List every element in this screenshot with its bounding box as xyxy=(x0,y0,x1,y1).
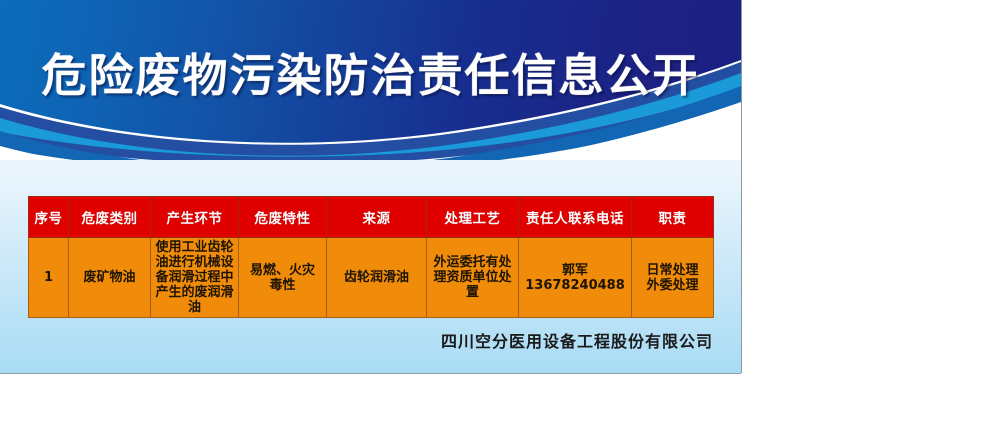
column-header-source: 来源 xyxy=(327,197,427,238)
hazardous-waste-table: 序号 危废类别 产生环节 危废特性 来源 处理工艺 责任人联系电话 职责 1 废… xyxy=(28,196,714,318)
duty-line-2: 外委处理 xyxy=(635,278,710,293)
responsible-person-phone: 13678240488 xyxy=(522,278,628,293)
column-header-category: 危废类别 xyxy=(69,197,151,238)
column-header-index: 序号 xyxy=(29,197,69,238)
cell-duty: 日常处理 外委处理 xyxy=(632,238,714,318)
table-row: 1 废矿物油 使用工业齿轮油进行机械设备润滑过程中产生的废润滑油 易燃、火灾 毒… xyxy=(29,238,714,318)
cell-responsible-contact: 郭军 13678240488 xyxy=(519,238,632,318)
cell-index: 1 xyxy=(29,238,69,318)
information-disclosure-poster: 危险废物污染防治责任信息公开 序号 危废类别 产生环节 危废特性 来源 处理工艺… xyxy=(0,0,741,373)
cell-treatment-process: 外运委托有处理资质单位处置 xyxy=(427,238,519,318)
cell-hazard-property: 易燃、火灾 毒性 xyxy=(239,238,327,318)
column-header-property: 危废特性 xyxy=(239,197,327,238)
column-header-contact: 责任人联系电话 xyxy=(519,197,632,238)
cell-source: 齿轮润滑油 xyxy=(327,238,427,318)
page-title: 危险废物污染防治责任信息公开 xyxy=(0,48,741,104)
company-signature: 四川空分医用设备工程股份有限公司 xyxy=(0,328,713,352)
hazardous-waste-table-container: 序号 危废类别 产生环节 危废特性 来源 处理工艺 责任人联系电话 职责 1 废… xyxy=(28,196,713,318)
poster-banner: 危险废物污染防治责任信息公开 xyxy=(0,0,741,160)
column-header-treatment: 处理工艺 xyxy=(427,197,519,238)
responsible-person-name: 郭军 xyxy=(522,263,628,278)
cell-generation-stage: 使用工业齿轮油进行机械设备润滑过程中产生的废润滑油 xyxy=(151,238,239,318)
cell-category: 废矿物油 xyxy=(69,238,151,318)
column-header-duty: 职责 xyxy=(632,197,714,238)
hazard-property-line-1: 易燃、火灾 xyxy=(242,263,323,278)
hazard-property-line-2: 毒性 xyxy=(242,278,323,293)
table-header-row: 序号 危废类别 产生环节 危废特性 来源 处理工艺 责任人联系电话 职责 xyxy=(29,197,714,238)
column-header-stage: 产生环节 xyxy=(151,197,239,238)
duty-line-1: 日常处理 xyxy=(635,263,710,278)
